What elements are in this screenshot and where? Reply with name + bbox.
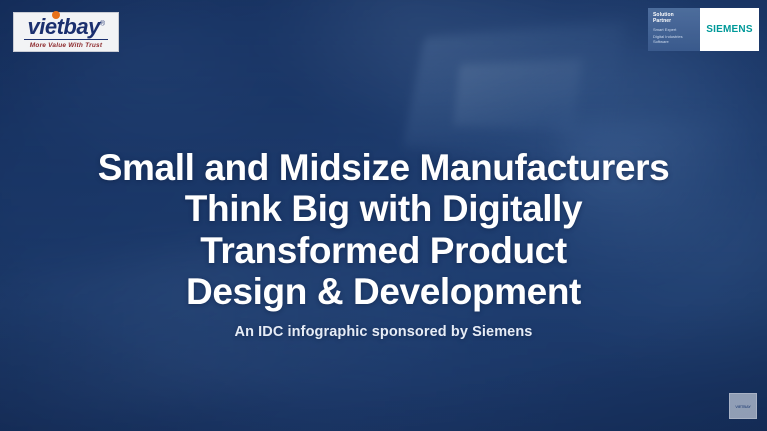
infographic-title-slide: vietbay® More Value With Trust Solution … [0,0,767,431]
vietbay-dot-icon [52,11,60,19]
vietbay-divider [24,39,108,40]
siemens-solution-partner-badge[interactable]: Solution Partner Smart Expert Digital In… [648,8,759,51]
title-line-3: Transformed Product [0,230,767,271]
title-line-2: Think Big with Digitally [0,188,767,229]
watermark-text: VIETBAY [735,404,751,409]
vietbay-tagline: More Value With Trust [30,42,102,49]
vietbay-logo[interactable]: vietbay® More Value With Trust [13,12,119,52]
partner-division-line2: Software [653,39,696,44]
siemens-logo-box: SIEMENS [700,8,759,51]
watermark-badge: VIETBAY [729,393,757,419]
siemens-logo-text: SIEMENS [706,24,752,35]
vietbay-wordmark: vietbay® [28,16,105,38]
vietbay-wordmark-text: vietbay [28,14,100,39]
page-subtitle: An IDC infographic sponsored by Siemens [0,324,767,340]
title-line-4: Design & Development [0,271,767,312]
partner-info-panel: Solution Partner Smart Expert Digital In… [648,8,700,51]
vietbay-registered-icon: ® [100,20,105,27]
partner-title-line2: Partner [653,18,696,24]
title-line-1: Small and Midsize Manufacturers [0,147,767,188]
page-title: Small and Midsize Manufacturers Think Bi… [0,147,767,313]
partner-level: Smart Expert [653,27,696,32]
